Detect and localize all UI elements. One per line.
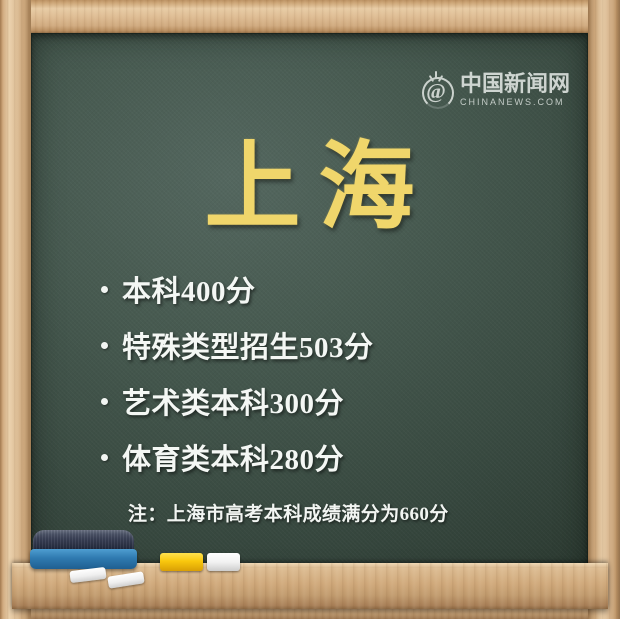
score-list: 本科400分 特殊类型招生503分 艺术类本科300分 体育类本科280分 xyxy=(101,261,571,485)
watermark-cn-name: 中国新闻网 xyxy=(460,73,570,95)
list-item-label: 艺术类本科300分 xyxy=(122,380,344,422)
list-item: 特殊类型招生503分 xyxy=(101,317,571,373)
footnote: 注：上海市高考本科成绩满分为660分 xyxy=(128,499,449,526)
eraser-plastic-base xyxy=(30,549,137,569)
frame-left-rail xyxy=(0,0,31,619)
blackboard-infographic: @ 中国新闻网 CHINANEWS.COM 上海 本科400分 特殊类型招生50… xyxy=(0,0,620,619)
list-item: 本科400分 xyxy=(101,261,571,317)
bullet-dot-icon xyxy=(101,342,108,349)
blackboard-eraser xyxy=(30,529,137,569)
chalkboard-surface: @ 中国新闻网 CHINANEWS.COM 上海 本科400分 特殊类型招生50… xyxy=(31,33,588,585)
page-title: 上海 xyxy=(31,138,588,239)
list-item: 体育类本科280分 xyxy=(101,429,571,485)
frame-top-rail xyxy=(0,0,620,33)
watermark-text: 中国新闻网 CHINANEWS.COM xyxy=(460,73,570,107)
white-chalk-piece xyxy=(207,553,240,571)
list-item: 艺术类本科300分 xyxy=(101,373,571,429)
bullet-dot-icon xyxy=(101,398,108,405)
at-symbol: @ xyxy=(421,77,451,105)
list-item-label: 特殊类型招生503分 xyxy=(122,324,374,366)
list-item-label: 体育类本科280分 xyxy=(122,436,344,478)
frame-right-rail xyxy=(588,0,620,619)
bullet-dot-icon xyxy=(101,286,108,293)
chinanews-watermark: @ 中国新闻网 CHINANEWS.COM xyxy=(421,73,570,107)
at-circle-icon: @ xyxy=(421,73,455,107)
list-item-label: 本科400分 xyxy=(122,268,256,310)
bullet-dot-icon xyxy=(101,454,108,461)
yellow-chalk-piece xyxy=(160,553,203,571)
watermark-en-name: CHINANEWS.COM xyxy=(460,98,570,107)
